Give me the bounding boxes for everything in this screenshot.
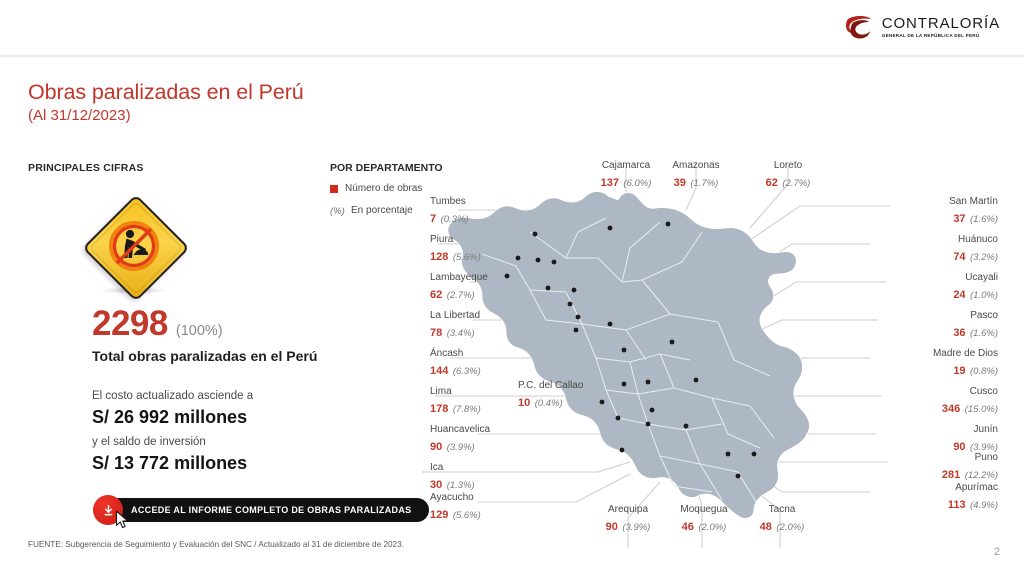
label-value: 281 <box>942 469 960 481</box>
label-value: 39 <box>674 177 686 189</box>
label-value: 46 <box>682 521 694 533</box>
label-percent: (1.7%) <box>690 178 718 189</box>
key-figures-panel: PRINCIPALES CIFRAS <box>28 162 328 174</box>
label-value: 62 <box>766 177 778 189</box>
label-value: 7 <box>430 213 436 225</box>
department-map-panel: POR DEPARTAMENTO Número de obras (%) En … <box>330 162 1000 552</box>
label-percent: (5.6%) <box>453 510 481 521</box>
label-value: 90 <box>606 521 618 533</box>
map-label-ayacucho: Ayacucho 129 (5.6%) <box>430 492 481 524</box>
label-value: 129 <box>430 509 448 521</box>
label-value: 74 <box>953 251 965 263</box>
label-name: Huánuco <box>830 234 998 246</box>
label-percent: (1.3%) <box>447 480 475 491</box>
total-caption: Total obras paralizadas en el Perú <box>92 348 317 364</box>
label-name: Ucayali <box>830 272 998 284</box>
label-name: Apurímac <box>830 482 998 494</box>
label-value: 346 <box>942 403 960 415</box>
page-title: Obras paralizadas en el Perú <box>28 80 304 105</box>
label-percent: (3.4%) <box>447 328 475 339</box>
label-name: Puno <box>830 452 998 464</box>
balance-value: S/ 13 772 millones <box>92 451 322 475</box>
label-value: 178 <box>430 403 448 415</box>
sign-glyph <box>98 210 170 282</box>
label-name: Ica <box>430 462 475 474</box>
map-label-huancavelica: Huancavelica 90 (3.9%) <box>430 424 490 456</box>
label-percent: (2.7%) <box>447 290 475 301</box>
page-subtitle: (Al 31/12/2023) <box>28 107 304 125</box>
map-label-ancash: Áncash 144 (6.3%) <box>430 348 481 380</box>
label-percent: (1.0%) <box>970 290 998 301</box>
map-label-lambayeque: Lambayeque 62 (2.7%) <box>430 272 488 304</box>
no-construction-work-sign-icon <box>88 204 180 296</box>
map-label-puno: Puno 281 (12.2%) <box>830 452 998 484</box>
key-figures-label: PRINCIPALES CIFRAS <box>28 162 328 174</box>
logo-title: CONTRALORÍA <box>882 16 1000 31</box>
map-label-ucayali: Ucayali 24 (1.0%) <box>830 272 998 304</box>
total-figure-row: 2298 (100%) <box>92 306 223 341</box>
label-value: 62 <box>430 289 442 301</box>
label-value: 19 <box>953 365 965 377</box>
label-percent: (2.0%) <box>776 522 804 533</box>
mouse-pointer-icon <box>115 510 131 530</box>
map-label-tumbes: Tumbes 7 (0.3%) <box>430 196 469 228</box>
label-name: La Libertad <box>430 310 480 322</box>
label-name: Lambayeque <box>430 272 488 284</box>
label-name: Tacna <box>744 504 820 516</box>
label-name: Pasco <box>830 310 998 322</box>
page-header: CONTRALORÍA GENERAL DE LA REPÚBLICA DEL … <box>0 0 1024 56</box>
map-label-amazonas: Amazonas 39 (1.7%) <box>656 160 736 192</box>
label-percent: (12.2%) <box>965 470 998 481</box>
label-percent: (3.9%) <box>447 442 475 453</box>
label-percent: (1.6%) <box>970 328 998 339</box>
label-value: 37 <box>953 213 965 225</box>
title-block: Obras paralizadas en el Perú (Al 31/12/2… <box>28 80 304 125</box>
label-name: Arequipa <box>586 504 670 516</box>
label-value: 36 <box>953 327 965 339</box>
label-value: 137 <box>601 177 619 189</box>
label-name: Ayacucho <box>430 492 481 504</box>
peru-map-body <box>448 192 810 519</box>
label-name: Cusco <box>830 386 998 398</box>
label-name: Huancavelica <box>430 424 490 436</box>
label-value: 30 <box>430 479 442 491</box>
label-percent: (1.6%) <box>970 214 998 225</box>
logo-subtitle: GENERAL DE LA REPÚBLICA DEL PERÚ <box>882 34 1000 39</box>
slide-page: CONTRALORÍA GENERAL DE LA REPÚBLICA DEL … <box>0 0 1024 576</box>
cost-block: El costo actualizado asciende a S/ 26 99… <box>92 388 322 479</box>
label-percent: (0.4%) <box>535 398 563 409</box>
header-divider <box>0 55 1024 57</box>
label-percent: (2.7%) <box>782 178 810 189</box>
label-percent: (15.0%) <box>965 404 998 415</box>
cost-lead: El costo actualizado asciende a <box>92 388 322 405</box>
label-percent: (6.3%) <box>453 366 481 377</box>
label-value: 10 <box>518 397 530 409</box>
label-value: 78 <box>430 327 442 339</box>
label-percent: (0.3%) <box>441 214 469 225</box>
map-label-la-libertad: La Libertad 78 (3.4%) <box>430 310 480 342</box>
contraloria-swirl-icon <box>842 10 876 44</box>
label-name: Junín <box>830 424 998 436</box>
label-percent: (2.0%) <box>698 522 726 533</box>
label-name: Áncash <box>430 348 481 360</box>
label-value: 90 <box>430 441 442 453</box>
label-name: Lima <box>430 386 481 398</box>
label-name: Piura <box>430 234 481 246</box>
label-percent: (6.0%) <box>623 178 651 189</box>
map-label-piura: Piura 128 (5.6%) <box>430 234 481 266</box>
label-value: 24 <box>953 289 965 301</box>
map-label-tacna: Tacna 48 (2.0%) <box>744 504 820 536</box>
map-label-arequipa: Arequipa 90 (3.9%) <box>586 504 670 536</box>
total-percent: (100%) <box>176 323 223 339</box>
label-percent: (3.9%) <box>622 522 650 533</box>
map-label-moquegua: Moquegua 46 (2.0%) <box>660 504 748 536</box>
label-percent: (0.8%) <box>970 366 998 377</box>
total-value: 2298 <box>92 306 168 341</box>
map-label-huanuco: Huánuco 74 (3.2%) <box>830 234 998 266</box>
label-percent: (3.2%) <box>970 252 998 263</box>
label-name: Madre de Dios <box>830 348 998 360</box>
cost-value: S/ 26 992 millones <box>92 405 322 429</box>
logo-wordmark: CONTRALORÍA GENERAL DE LA REPÚBLICA DEL … <box>882 16 1000 39</box>
contraloria-logo: CONTRALORÍA GENERAL DE LA REPÚBLICA DEL … <box>842 10 1000 44</box>
map-label-san-martin: San Martín 37 (1.6%) <box>830 196 998 228</box>
map-label-apurimac: Apurímac 113 (4.9%) <box>830 482 998 514</box>
label-name: P.C. del Callao <box>518 380 583 392</box>
label-name: Tumbes <box>430 196 469 208</box>
label-percent: (7.8%) <box>453 404 481 415</box>
map-label-loreto: Loreto 62 (2.7%) <box>750 160 826 192</box>
map-label-pasco: Pasco 36 (1.6%) <box>830 310 998 342</box>
map-label-cusco: Cusco 346 (15.0%) <box>830 386 998 418</box>
label-value: 48 <box>760 521 772 533</box>
label-name: Amazonas <box>656 160 736 172</box>
map-label-junin: Junín 90 (3.9%) <box>830 424 998 456</box>
label-percent: (5.6%) <box>453 252 481 263</box>
label-name: Moquegua <box>660 504 748 516</box>
label-percent: (4.9%) <box>970 500 998 511</box>
label-name: Loreto <box>750 160 826 172</box>
map-label-madre-de-dios: Madre de Dios 19 (0.8%) <box>830 348 998 380</box>
label-value: 144 <box>430 365 448 377</box>
map-label-callao: P.C. del Callao 10 (0.4%) <box>518 380 583 412</box>
map-label-lima: Lima 178 (7.8%) <box>430 386 481 418</box>
map-label-ica: Ica 30 (1.3%) <box>430 462 475 494</box>
label-value: 113 <box>948 499 966 511</box>
label-value: 128 <box>430 251 448 263</box>
balance-lead: y el saldo de inversión <box>92 434 322 451</box>
label-name: San Martín <box>830 196 998 208</box>
